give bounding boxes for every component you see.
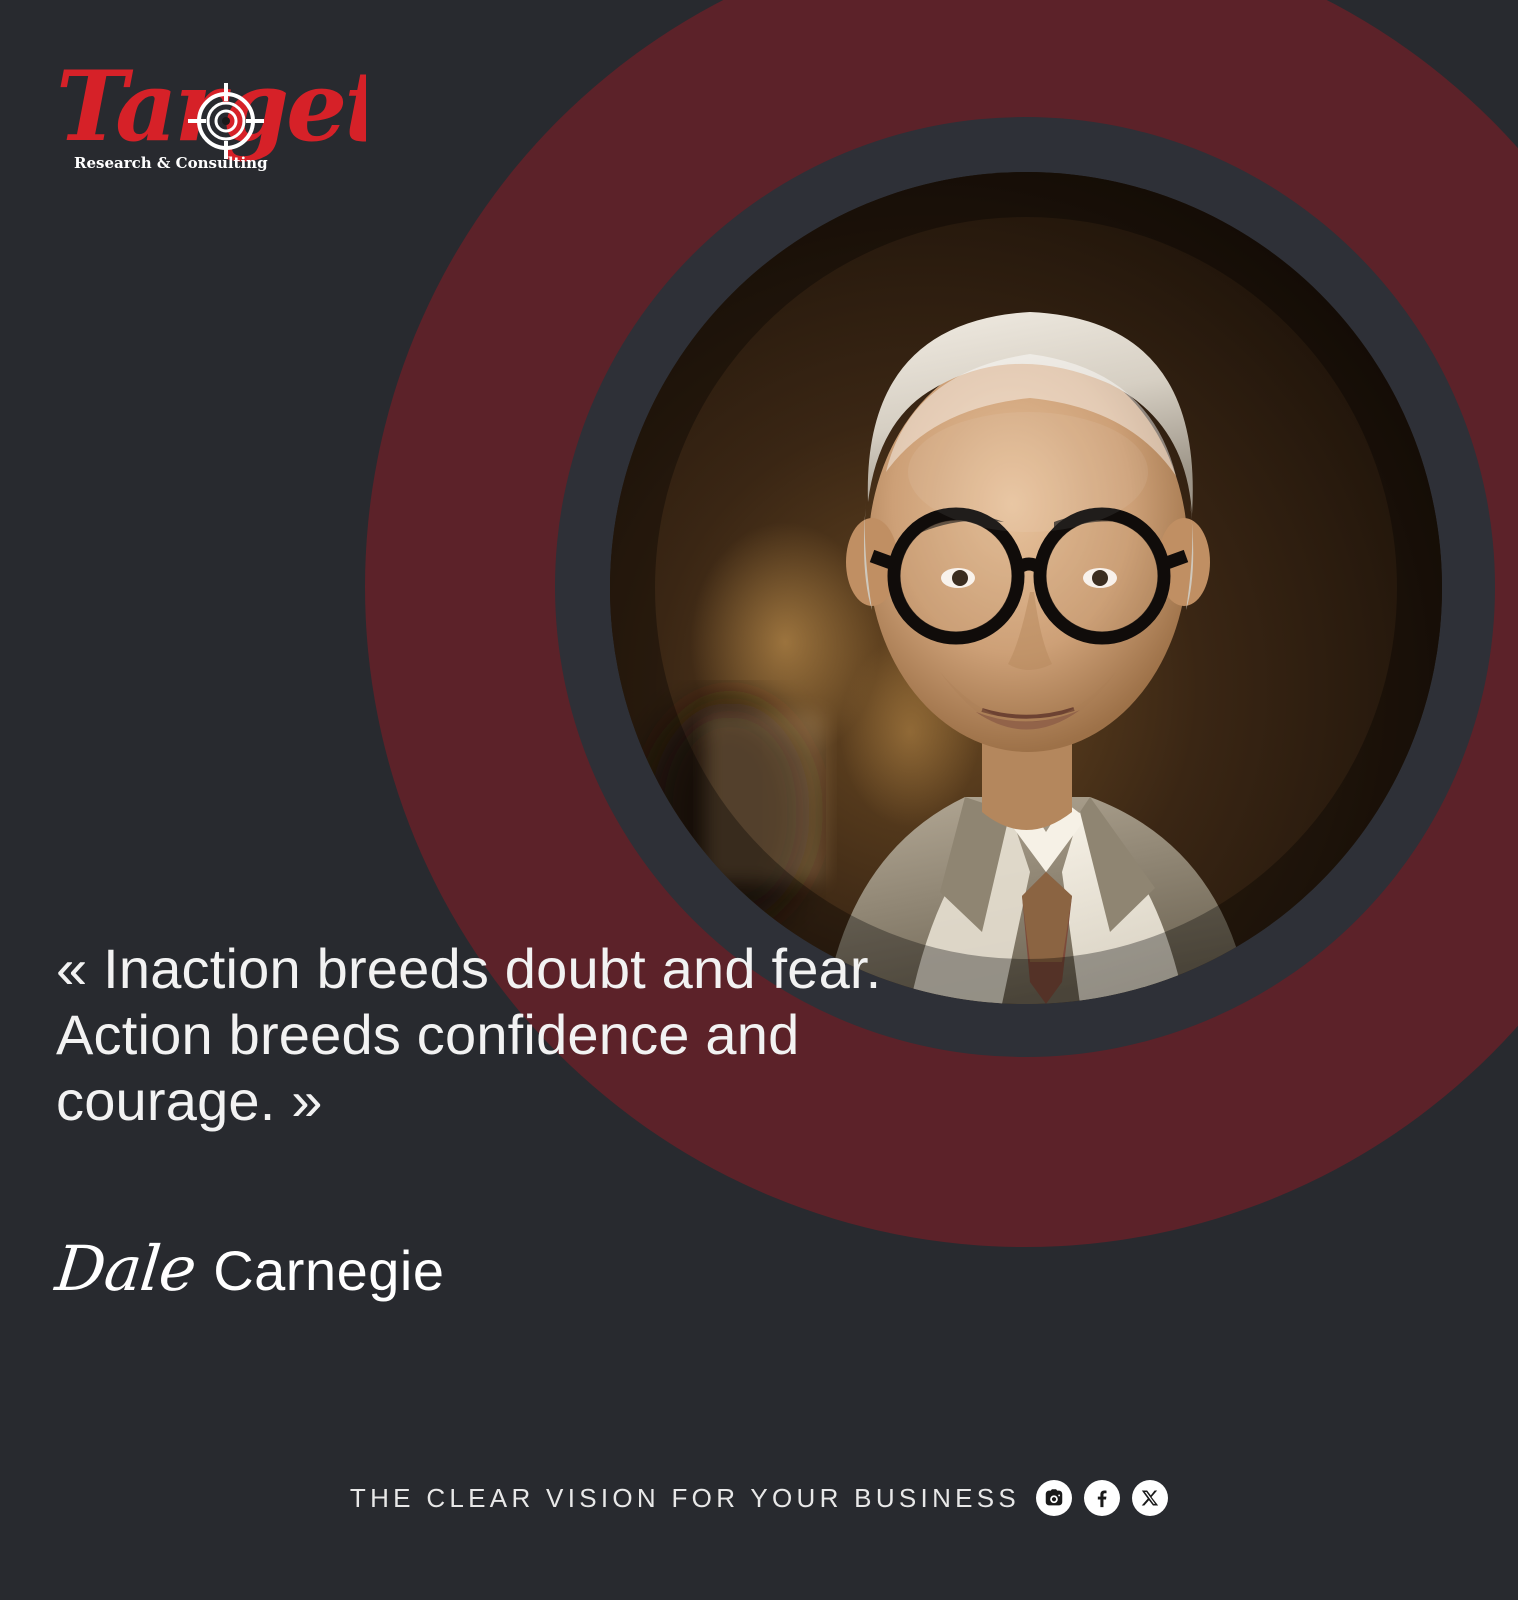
author-first-name: Dale xyxy=(52,1232,199,1305)
footer-tagline: THE CLEAR VISION FOR YOUR BUSINESS xyxy=(350,1483,1020,1514)
author-last-name: Carnegie xyxy=(213,1238,444,1303)
footer-bar: THE CLEAR VISION FOR YOUR BUSINESS xyxy=(0,1480,1518,1516)
social-links xyxy=(1036,1480,1168,1516)
brand-logo[interactable]: Target Research & Consulting xyxy=(56,58,366,178)
x-twitter-icon[interactable] xyxy=(1132,1480,1168,1516)
quote-text: « Inaction breeds doubt and fear. Action… xyxy=(56,936,926,1134)
quote-poster: Target Research & Consulting « Inaction … xyxy=(0,0,1518,1600)
instagram-icon[interactable] xyxy=(1036,1480,1072,1516)
logo-tagline: Research & Consulting xyxy=(74,154,268,172)
facebook-icon[interactable] xyxy=(1084,1480,1120,1516)
portrait-photo xyxy=(610,172,1442,1004)
author-attribution: Dale Carnegie xyxy=(56,1232,444,1305)
